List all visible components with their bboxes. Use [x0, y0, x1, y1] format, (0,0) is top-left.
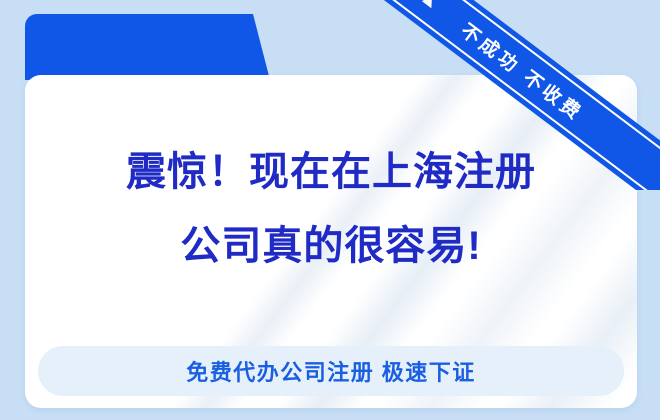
main-card: 震惊！现在在上海注册 公司真的很容易! 免费代办公司注册 极速下证 — [25, 75, 637, 408]
triangle-up-icon — [422, 0, 437, 8]
cta-label: 免费代办公司注册 极速下证 — [186, 355, 476, 387]
headline: 震惊！现在在上海注册 公司真的很容易! — [25, 135, 637, 283]
brand-tab — [25, 14, 270, 80]
headline-line-2: 公司真的很容易! — [25, 209, 637, 283]
headline-line-1: 震惊！现在在上海注册 — [25, 135, 637, 209]
poster-canvas: 上海壹隆 震惊！现在在上海注册 公司真的很容易! 免费代办公司注册 极速下证 不… — [0, 0, 660, 420]
cta-bar[interactable]: 免费代办公司注册 极速下证 — [38, 346, 624, 396]
